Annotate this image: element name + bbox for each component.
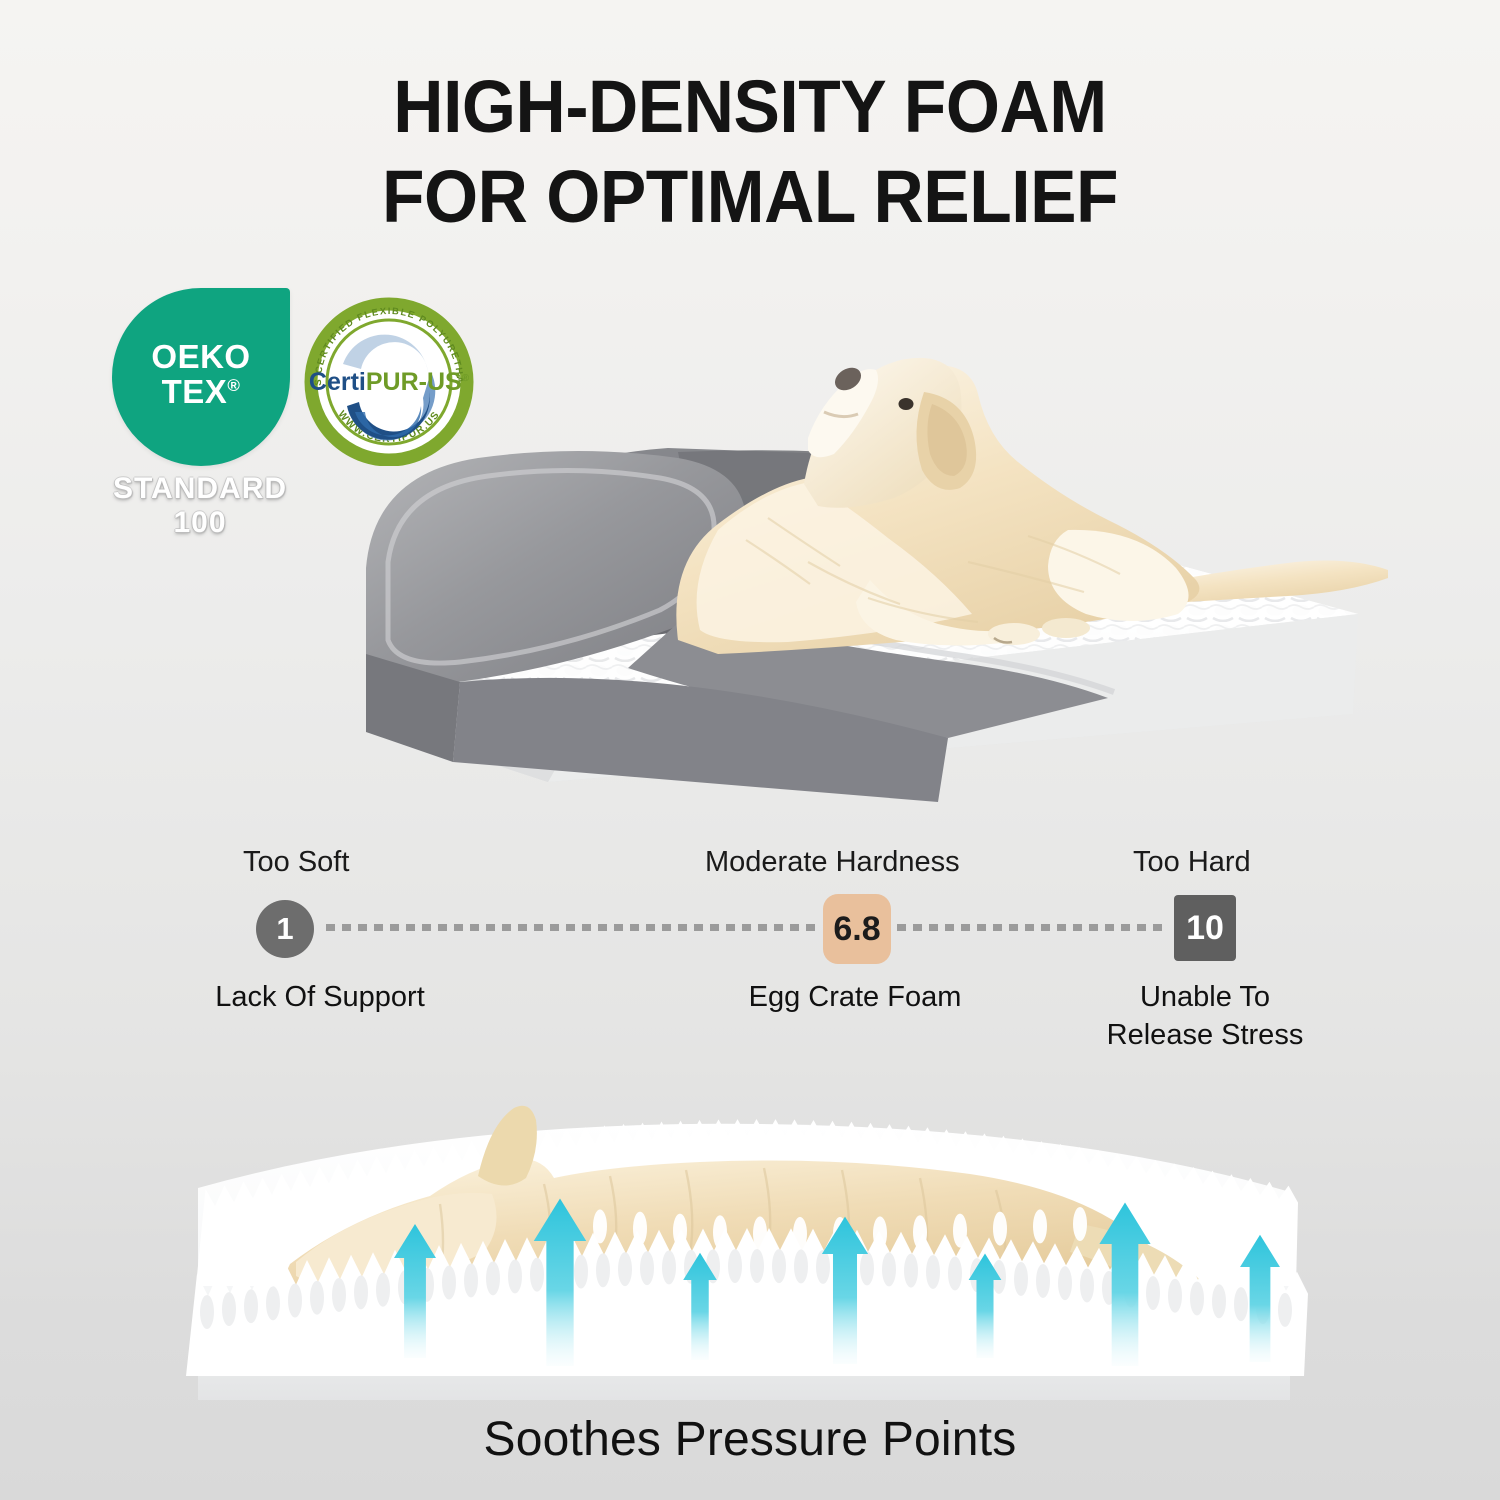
scale-top-label-too-soft: Too Soft [243,846,349,879]
registered-mark-icon: ® [227,376,240,395]
dog-on-orthopedic-bed-illustration [248,262,1388,802]
scale-top-label-too-hard: Too Hard [1133,846,1251,879]
scale-dashed-line-right [897,924,1169,931]
scale-bottom-label-lack-of-support: Lack Of Support [190,978,450,1016]
pressure-relief-image [140,1028,1360,1400]
scale-marker-1[interactable]: 1 [256,900,314,958]
dog-on-eggcrate-foam-with-airflow-arrows [140,1028,1360,1400]
scale-bottom-label-egg-crate-foam: Egg Crate Foam [730,978,980,1016]
unable-line-1: Unable To [1090,978,1320,1016]
infographic-canvas: HIGH-DENSITY FOAM FOR OPTIMAL RELIEF OEK… [0,0,1500,1500]
headline-line-1: HIGH-DENSITY FOAM [393,65,1106,148]
hero-product-image [248,262,1388,802]
oeko-tex-line-1: OEKO [151,339,250,374]
scale-dashed-line-left [326,924,818,931]
scale-marker-6-8[interactable]: 6.8 [823,894,891,964]
oeko-tex-line-2: TEX® [162,374,241,409]
headline-line-2: FOR OPTIMAL RELIEF [45,152,1455,242]
hardness-scale: Too Soft Moderate Hardness Too Hard 1 6.… [0,838,1500,1058]
page-title: HIGH-DENSITY FOAM FOR OPTIMAL RELIEF [45,62,1455,243]
caption-soothes-pressure-points: Soothes Pressure Points [0,1412,1500,1467]
scale-top-label-moderate-hardness: Moderate Hardness [705,846,960,879]
scale-marker-10[interactable]: 10 [1174,895,1236,961]
